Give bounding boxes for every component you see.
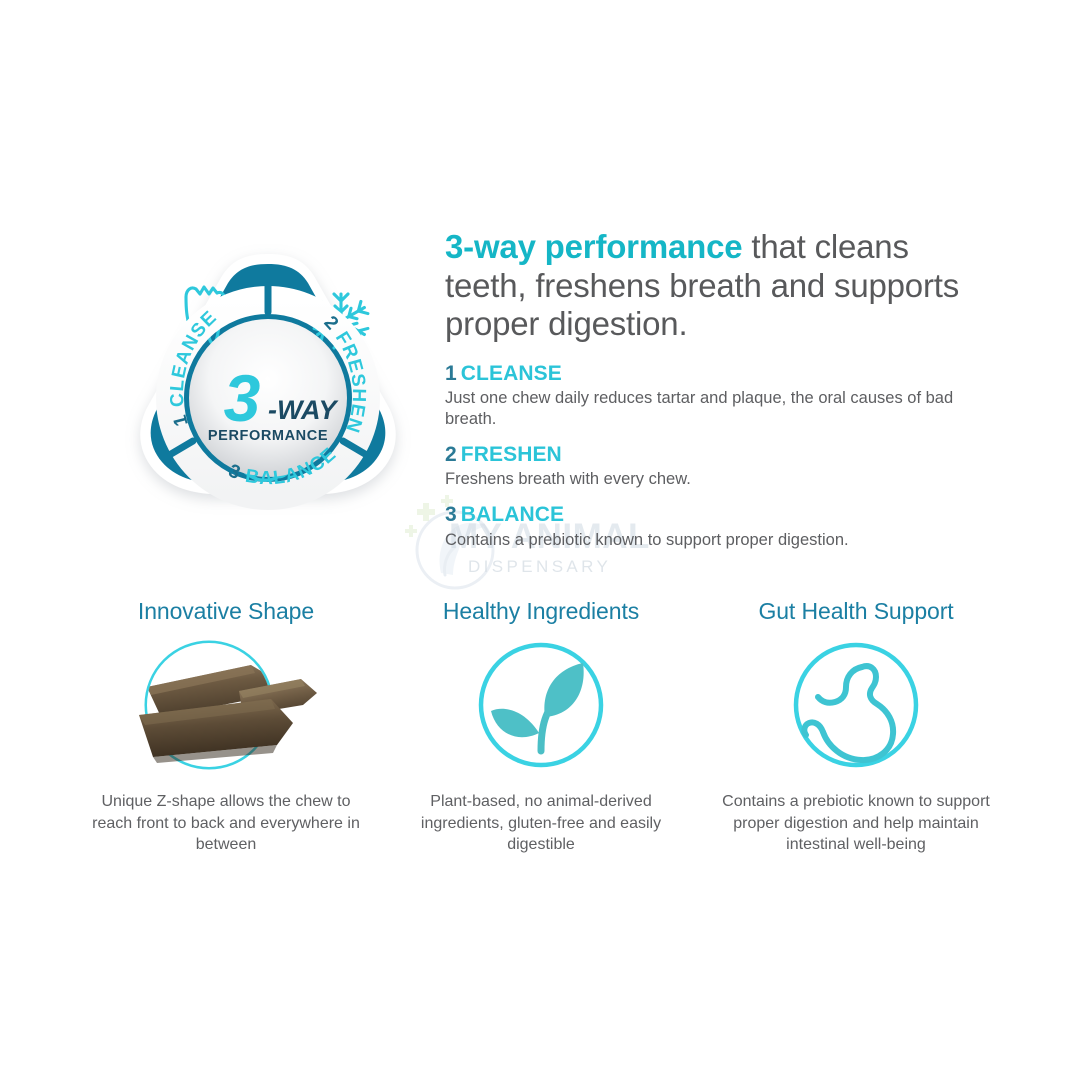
- feature-caption: Plant-based, no animal-derived ingredien…: [399, 791, 684, 856]
- leaf-sprout-icon: [391, 639, 691, 771]
- feature-title: Gut Health Support: [706, 598, 1006, 625]
- hero-section: 1 CLEANSE 2 FRESHEN 3 BALANCE: [0, 0, 1080, 600]
- feature-healthy-ingredients: Healthy Ingredients Plant-based, no anim…: [391, 598, 691, 856]
- svg-text:PERFORMANCE: PERFORMANCE: [208, 428, 328, 444]
- benefit-item-freshen: 2FRESHEN Freshens breath with every chew…: [445, 443, 975, 490]
- benefit-number: 3: [445, 503, 457, 526]
- benefit-body: Just one chew daily reduces tartar and p…: [445, 388, 970, 430]
- stomach-icon: [706, 639, 1006, 771]
- three-way-performance-badge: 1 CLEANSE 2 FRESHEN 3 BALANCE: [92, 238, 452, 548]
- infographic-page: MY ANIMAL DISPENSARY: [0, 0, 1080, 1080]
- benefit-number: 2: [445, 443, 457, 466]
- feature-caption: Contains a prebiotic known to support pr…: [714, 791, 999, 856]
- benefit-body: Freshens breath with every chew.: [445, 469, 970, 490]
- headline-accent: 3-way performance: [445, 228, 742, 265]
- benefit-item-cleanse: 1CLEANSE Just one chew daily reduces tar…: [445, 362, 975, 430]
- svg-text:-WAY: -WAY: [268, 395, 339, 425]
- benefit-number: 1: [445, 362, 457, 385]
- feature-innovative-shape: Innovative Shape: [76, 598, 376, 856]
- svg-text:3: 3: [224, 361, 261, 435]
- feature-title: Healthy Ingredients: [391, 598, 691, 625]
- feature-columns: Innovative Shape: [76, 598, 1006, 856]
- badge-graphic: 1 CLEANSE 2 FRESHEN 3 BALANCE: [92, 238, 452, 548]
- feature-title: Innovative Shape: [76, 598, 376, 625]
- benefit-heading: 3BALANCE: [445, 503, 975, 527]
- benefit-label: BALANCE: [461, 503, 564, 526]
- benefit-heading: 2FRESHEN: [445, 443, 975, 467]
- benefit-heading: 1CLEANSE: [445, 362, 975, 386]
- feature-gut-health-support: Gut Health Support Contains a prebiotic …: [706, 598, 1006, 856]
- benefit-label: FRESHEN: [461, 443, 562, 466]
- dental-chew-photo: [76, 639, 376, 771]
- feature-caption: Unique Z-shape allows the chew to reach …: [84, 791, 369, 856]
- benefit-item-balance: 3BALANCE Contains a prebiotic known to s…: [445, 503, 975, 550]
- hero-copy: 3-way performance that cleans teeth, fre…: [445, 228, 975, 564]
- benefit-body: Contains a prebiotic known to support pr…: [445, 530, 970, 551]
- page-title: 3-way performance that cleans teeth, fre…: [445, 228, 975, 344]
- benefit-label: CLEANSE: [461, 362, 562, 385]
